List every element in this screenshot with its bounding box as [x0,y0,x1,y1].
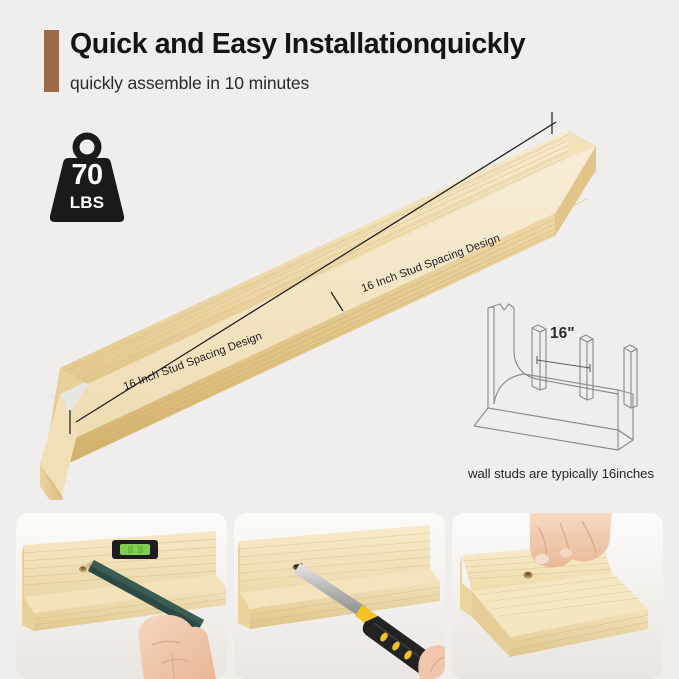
accent-bar [44,30,59,92]
wall-studs-diagram: 16" [468,298,668,456]
stud-diagram-caption: wall studs are typically 16inches [468,466,654,481]
page-title: Quick and Easy Installationquickly [70,28,525,61]
header: Quick and Easy Installationquickly quick… [0,0,679,110]
page-subtitle: quickly assemble in 10 minutes [70,73,309,94]
bubble-level-icon [112,540,158,559]
installation-steps-gallery [0,513,679,679]
photo-drive-screw [234,513,445,679]
stud-dimension-label: 16" [550,325,575,343]
photo-mark-with-pencil [16,513,227,679]
photo-mount-shelf [452,513,663,679]
infographic-page: Quick and Easy Installationquickly quick… [0,0,679,679]
